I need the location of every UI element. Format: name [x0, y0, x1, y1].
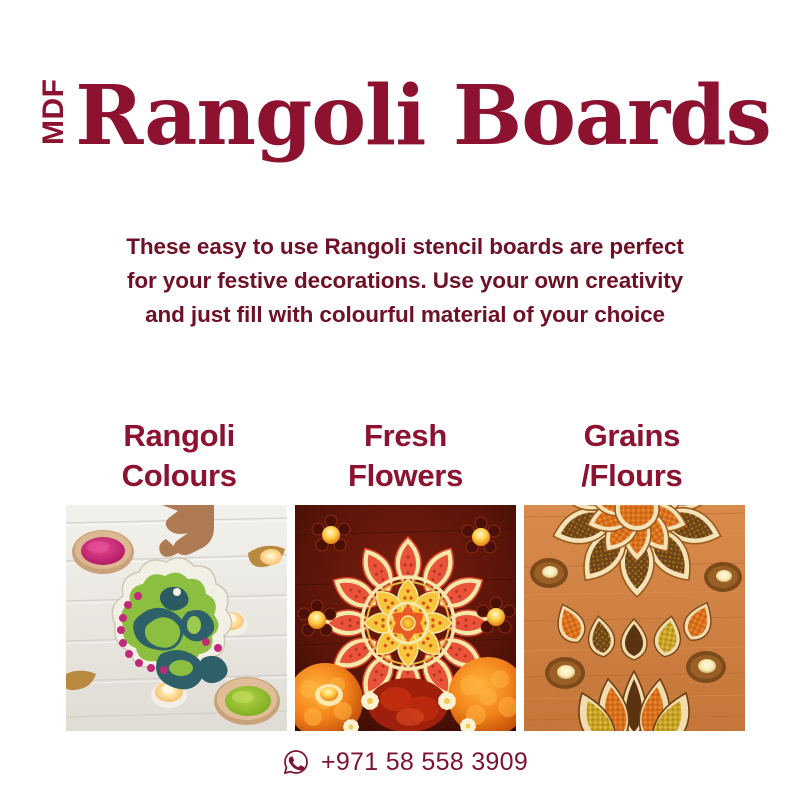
page-title: Rangoli Boards	[75, 78, 771, 156]
contact-footer: +971 58 558 3909	[0, 740, 810, 784]
description-text: These easy to use Rangoli stencil boards…	[72, 230, 738, 333]
grains-flours-illustration	[524, 505, 745, 731]
category-image-row	[66, 505, 745, 731]
fresh-flowers-illustration	[295, 505, 516, 731]
category-label-line-1: Rangoli	[123, 418, 235, 453]
description-line-3: and just fill with colourful material of…	[72, 298, 738, 332]
whatsapp-icon[interactable]	[282, 748, 310, 776]
category-label-line-2: Colours	[66, 456, 292, 496]
category-heading-fresh-flowers: Fresh Flowers	[292, 416, 518, 495]
category-label-line-1: Grains	[584, 418, 680, 453]
material-prefix-label: MDF	[39, 72, 69, 152]
category-label-line-2: /Flours	[519, 456, 745, 496]
rangoli-colours-illustration	[66, 505, 287, 731]
category-image-fresh-flowers	[295, 505, 516, 731]
category-heading-row: Rangoli Colours Fresh Flowers Grains /Fl…	[66, 416, 745, 495]
category-label-line-2: Flowers	[292, 456, 518, 496]
category-label-line-1: Fresh	[364, 418, 447, 453]
whatsapp-phone-number[interactable]: +971 58 558 3909	[321, 750, 528, 775]
category-heading-rangoli-colours: Rangoli Colours	[66, 416, 292, 495]
poster-canvas: MDF Rangoli Boards These easy to use Ran…	[0, 0, 810, 810]
category-heading-grains-flours: Grains /Flours	[519, 416, 745, 495]
description-line-1: These easy to use Rangoli stencil boards…	[72, 230, 738, 264]
category-image-rangoli-colours	[66, 505, 287, 731]
description-line-2: for your festive decorations. Use your o…	[72, 264, 738, 298]
category-image-grains-flours	[524, 505, 745, 731]
poster-title-block: MDF Rangoli Boards	[0, 52, 810, 156]
